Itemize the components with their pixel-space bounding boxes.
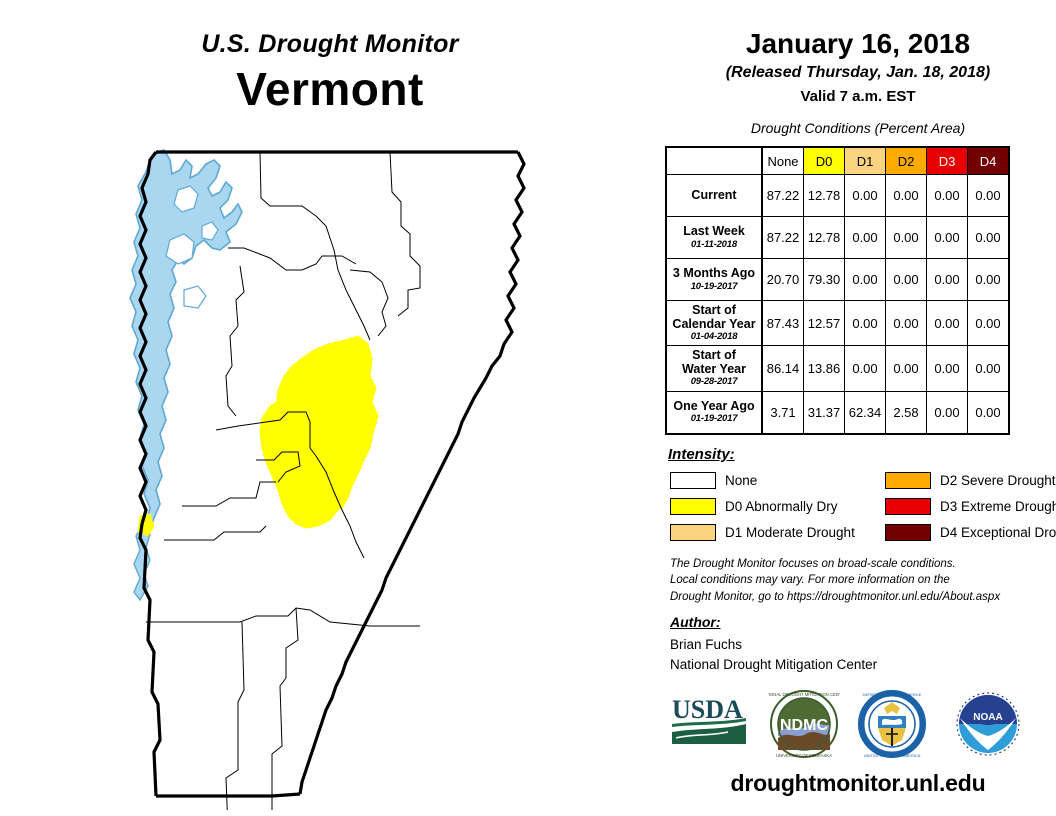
cell-d1: 0.00 <box>845 301 886 346</box>
cell-none: 3.71 <box>762 391 804 434</box>
cell-d3: 0.00 <box>927 346 968 391</box>
legend-swatch-icon <box>885 498 931 515</box>
row-label-line: Start of <box>692 303 736 317</box>
row-label: Start ofWater Year09-28-2017 <box>666 346 762 391</box>
legend-swatch-icon <box>670 524 716 541</box>
vermont-drought-map[interactable] <box>120 130 560 810</box>
row-label: Start ofCalendar Year01-04-2018 <box>666 301 762 346</box>
row-label-date: 09-28-2017 <box>671 377 757 387</box>
site-url[interactable]: droughtmonitor.unl.edu <box>660 770 1056 797</box>
column-header-d1: D1 <box>845 147 886 175</box>
row-label-date: 01-19-2017 <box>671 414 757 424</box>
legend-label: D3 Extreme Drought <box>940 499 1056 514</box>
svg-text:UNIVERSITY OF NEBRASKA: UNIVERSITY OF NEBRASKA <box>776 753 832 758</box>
column-header-d0: D0 <box>804 147 845 175</box>
row-label-line: Last Week <box>683 224 745 238</box>
program-title: U.S. Drought Monitor <box>0 30 660 59</box>
noaa-logo: NOAA <box>952 688 1024 765</box>
cell-d0: 13.86 <box>804 346 845 391</box>
legend-label: D4 Exceptional Drought <box>940 525 1056 540</box>
table-caption: Drought Conditions (Percent Area) <box>660 120 1056 136</box>
column-header-d3: D3 <box>927 147 968 175</box>
drought-conditions-table: None D0 D1 D2 D3 D4 Current87.2212.780.0… <box>665 146 1010 435</box>
table-row: Last Week01-11-201887.2212.780.000.000.0… <box>666 217 1009 259</box>
legend-item[interactable]: D4 Exceptional Drought <box>885 520 1056 544</box>
table-row: Start ofCalendar Year01-04-201887.4312.5… <box>666 301 1009 346</box>
row-label: Last Week01-11-2018 <box>666 217 762 259</box>
valid-time-note: Valid 7 a.m. EST <box>660 88 1056 105</box>
table-row: 3 Months Ago10-19-201720.7079.300.000.00… <box>666 259 1009 301</box>
cell-none: 20.70 <box>762 259 804 301</box>
cell-d2: 0.00 <box>886 346 927 391</box>
cell-d2: 0.00 <box>886 301 927 346</box>
footnote-line-3: Drought Monitor, go to https://droughtmo… <box>670 589 1050 605</box>
cell-none: 87.43 <box>762 301 804 346</box>
cell-d0: 12.78 <box>804 217 845 259</box>
usdoc-logo: DEPARTMENT OF COMMERCE UNITED STATES OF … <box>856 688 928 765</box>
table-row: Start ofWater Year09-28-201786.1413.860.… <box>666 346 1009 391</box>
svg-text:USDA: USDA <box>672 695 743 724</box>
cell-d4: 0.00 <box>968 346 1010 391</box>
table-body: Current87.2212.780.000.000.000.00Last We… <box>666 175 1009 434</box>
cell-d0: 12.57 <box>804 301 845 346</box>
cell-d4: 0.00 <box>968 301 1010 346</box>
usda-logo: USDA <box>670 694 750 755</box>
legend-swatch-icon <box>670 472 716 489</box>
author-organization: National Drought Mitigation Center <box>670 655 877 675</box>
cell-none: 86.14 <box>762 346 804 391</box>
cell-d0: 31.37 <box>804 391 845 434</box>
legend-item[interactable]: D1 Moderate Drought <box>670 520 855 544</box>
column-header-d4: D4 <box>968 147 1010 175</box>
legend-swatch-icon <box>670 498 716 515</box>
svg-text:NOAA: NOAA <box>973 712 1002 723</box>
footnote-text: The Drought Monitor focuses on broad-sca… <box>670 556 1050 605</box>
table-header-row: None D0 D1 D2 D3 D4 <box>666 147 1009 175</box>
table-row: One Year Ago01-19-20173.7131.3762.342.58… <box>666 391 1009 434</box>
partner-logos: USDA NDMC NATIONAL DROUGHT MITIGATION CE… <box>660 688 1056 764</box>
legend-item[interactable]: D0 Abnormally Dry <box>670 494 855 518</box>
footnote-line-1: The Drought Monitor focuses on broad-sca… <box>670 556 1050 572</box>
row-label-date: 10-19-2017 <box>671 282 757 292</box>
release-date: January 16, 2018 <box>660 28 1056 60</box>
cell-d3: 0.00 <box>927 175 968 217</box>
table-row: Current87.2212.780.000.000.000.00 <box>666 175 1009 217</box>
legend-label: D2 Severe Drought <box>940 473 1056 488</box>
cell-d4: 0.00 <box>968 259 1010 301</box>
legend-column-right: D2 Severe DroughtD3 Extreme DroughtD4 Ex… <box>885 468 1056 546</box>
cell-d4: 0.00 <box>968 175 1010 217</box>
svg-text:NDMC: NDMC <box>780 717 828 734</box>
d0-abnormally-dry-region[interactable] <box>138 336 378 536</box>
row-label-line: Current <box>691 188 736 202</box>
cell-d3: 0.00 <box>927 259 968 301</box>
legend-label: D1 Moderate Drought <box>725 525 855 540</box>
row-label-date: 01-11-2018 <box>671 240 757 250</box>
row-label-line: Calendar Year <box>672 317 755 331</box>
row-label: One Year Ago01-19-2017 <box>666 391 762 434</box>
ndmc-logo: NDMC NATIONAL DROUGHT MITIGATION CENTER … <box>768 688 840 765</box>
state-title: Vermont <box>0 62 660 116</box>
cell-d1: 62.34 <box>845 391 886 434</box>
released-note: (Released Thursday, Jan. 18, 2018) <box>660 64 1056 82</box>
row-label: Current <box>666 175 762 217</box>
table-corner-cell <box>666 147 762 175</box>
legend-item[interactable]: D2 Severe Drought <box>885 468 1056 492</box>
cell-none: 87.22 <box>762 175 804 217</box>
row-label-line: Water Year <box>682 362 746 376</box>
author-name: Brian Fuchs <box>670 635 877 655</box>
svg-text:DEPARTMENT OF COMMERCE: DEPARTMENT OF COMMERCE <box>863 692 922 697</box>
cell-d2: 2.58 <box>886 391 927 434</box>
cell-d2: 0.00 <box>886 175 927 217</box>
column-header-d2: D2 <box>886 147 927 175</box>
cell-d4: 0.00 <box>968 217 1010 259</box>
cell-d1: 0.00 <box>845 259 886 301</box>
map-svg <box>120 130 560 810</box>
cell-d3: 0.00 <box>927 217 968 259</box>
legend-label: None <box>725 473 757 488</box>
row-label-line: One Year Ago <box>673 399 754 413</box>
author-heading: Author: <box>670 614 721 630</box>
cell-d0: 12.78 <box>804 175 845 217</box>
legend-swatch-icon <box>885 472 931 489</box>
cell-d1: 0.00 <box>845 346 886 391</box>
cell-d1: 0.00 <box>845 175 886 217</box>
row-label-line: 3 Months Ago <box>673 266 755 280</box>
row-label-date: 01-04-2018 <box>671 332 757 342</box>
cell-d3: 0.00 <box>927 301 968 346</box>
row-label-line: Start of <box>692 348 736 362</box>
cell-d1: 0.00 <box>845 217 886 259</box>
footnote-line-2: Local conditions may vary. For more info… <box>670 572 1050 588</box>
column-header-none: None <box>762 147 804 175</box>
legend-column-left: NoneD0 Abnormally DryD1 Moderate Drought <box>670 468 855 546</box>
svg-text:NATIONAL DROUGHT MITIGATION CE: NATIONAL DROUGHT MITIGATION CENTER <box>768 692 840 697</box>
legend-item[interactable]: None <box>670 468 855 492</box>
cell-d4: 0.00 <box>968 391 1010 434</box>
legend-swatch-icon <box>885 524 931 541</box>
svg-text:UNITED STATES OF AMERICA: UNITED STATES OF AMERICA <box>864 753 921 758</box>
legend-label: D0 Abnormally Dry <box>725 499 838 514</box>
table-header: None D0 D1 D2 D3 D4 <box>666 147 1009 175</box>
intensity-heading: Intensity: <box>668 446 735 463</box>
cell-none: 87.22 <box>762 217 804 259</box>
cell-d3: 0.00 <box>927 391 968 434</box>
row-label: 3 Months Ago10-19-2017 <box>666 259 762 301</box>
cell-d2: 0.00 <box>886 259 927 301</box>
author-block: Brian Fuchs National Drought Mitigation … <box>670 635 877 676</box>
legend-item[interactable]: D3 Extreme Drought <box>885 494 1056 518</box>
cell-d2: 0.00 <box>886 217 927 259</box>
cell-d0: 79.30 <box>804 259 845 301</box>
